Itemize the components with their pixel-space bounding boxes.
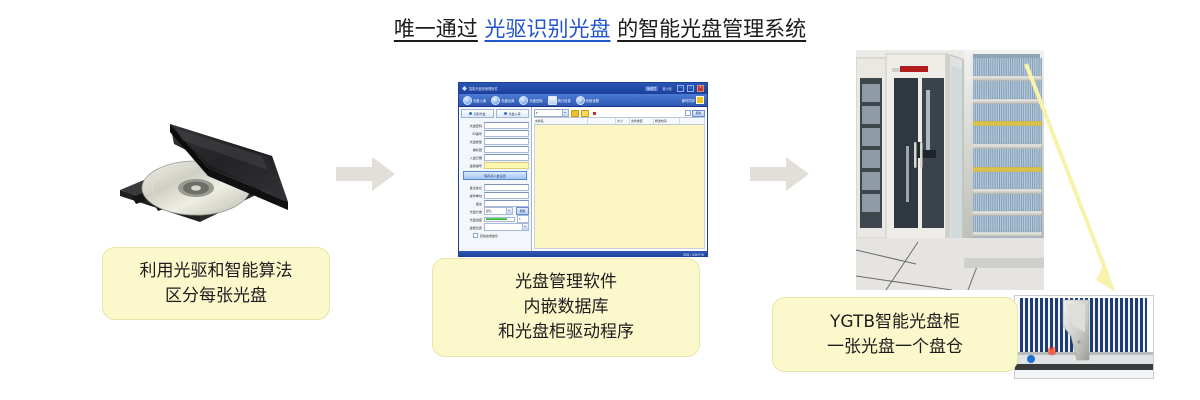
toolbar-label-sync: 即时同步	[682, 98, 695, 103]
caption-software-line-2: 内嵌数据库	[524, 295, 609, 320]
caption-software-line-3: 和光盘柜驱动程序	[498, 320, 634, 345]
select-all-checkbox-icon[interactable]	[685, 110, 690, 115]
tab-label-scan: 识别光盘	[473, 112, 485, 116]
status-bar-text: 就绪 | 系统正常	[683, 253, 704, 257]
stats-icon	[548, 96, 557, 105]
field-input-remark-info[interactable]	[484, 184, 529, 191]
caption-box-drive: 利用光驱和智能算法 区分每张光盘	[102, 247, 330, 320]
record-icon[interactable]	[593, 112, 596, 115]
field-label-disc-password: 光盘密码	[461, 123, 482, 128]
cabinet-position-select[interactable]	[484, 223, 529, 231]
app-body: 识别光盘 光盘入库 光盘密码 ID编号 光盘类型	[459, 107, 707, 251]
checkbox-icon[interactable]	[473, 233, 478, 238]
field-label-operator-unit: 操作单位	[461, 193, 482, 198]
toolbar-button-settings[interactable]: 系统设置	[574, 96, 601, 105]
app-toolbar[interactable]: 光盘入库 光盘出库 光盘还库 统计信息 系统设置 即时同步	[459, 94, 707, 107]
field-row-volume-title: 卷标题	[461, 145, 529, 153]
toolbar-button-inbound[interactable]: 光盘入库	[461, 96, 488, 105]
arrow-software-to-cabinet	[750, 157, 810, 191]
disc-progress-bar	[484, 217, 515, 222]
field-label-disc-progress: 光盘进度	[461, 217, 482, 222]
sync-flag-icon	[696, 96, 704, 104]
caption-drive-line-1: 利用光驱和智能算法	[140, 259, 293, 284]
progress-fill	[486, 218, 508, 220]
field-row-remark: 备注	[461, 199, 529, 207]
field-label-cabinet-position: 盘柜位置	[461, 225, 482, 230]
toolbar-label-inbound: 光盘入库	[473, 98, 486, 103]
disc-category-select[interactable]: 默认	[484, 207, 513, 215]
file-list-header: 文件名 大小 文件类型 修改时间	[534, 117, 705, 125]
disc-slot-gripper-illustration	[1015, 296, 1153, 378]
folder-up-icon[interactable]	[581, 110, 589, 117]
field-input-volume-title[interactable]	[484, 146, 529, 153]
optical-drive-icon	[112, 104, 302, 229]
column-extra	[680, 118, 705, 124]
field-row-id: ID编号	[461, 129, 529, 137]
title-suffix: 的智能光盘管理系统	[617, 17, 806, 41]
caption-box-software: 光盘管理软件 内嵌数据库 和光盘柜驱动程序	[432, 258, 700, 357]
column-modified: 修改时间	[654, 118, 680, 124]
app-logo-icon	[462, 86, 467, 91]
field-row-disc-category: 光盘分类 默认 刷新	[461, 207, 529, 215]
disc-category-value: 默认	[485, 209, 506, 213]
toolbar-label-stats: 统计信息	[558, 98, 571, 103]
checkbox-label: 自动启用盘仓	[480, 234, 498, 238]
minimize-button[interactable]: —	[677, 85, 684, 92]
inbound-icon	[463, 96, 472, 105]
field-input-rack-number[interactable]	[484, 162, 529, 169]
tab-add-disc[interactable]: 光盘入库	[496, 109, 529, 118]
optical-drive-image	[112, 104, 302, 229]
user-badge[interactable]: 管理员	[645, 86, 659, 91]
disc-cabinet-illustration	[856, 50, 1044, 290]
column-blank	[588, 118, 616, 124]
field-input-remark[interactable]	[484, 200, 529, 207]
field-row-disc-type: 光盘类型	[461, 137, 529, 145]
toolbar-button-outbound[interactable]: 光盘出库	[489, 96, 516, 105]
toolbar-sync[interactable]: 即时同步	[682, 96, 705, 104]
field-label-rack-number: 盘架编号	[461, 163, 482, 168]
file-browser-toolbar[interactable]: F: 刷新	[534, 109, 705, 117]
caption-drive-line-2: 区分每张光盘	[165, 284, 267, 309]
caption-cabinet-line-1: YGTB智能光盘柜	[830, 310, 960, 335]
close-button[interactable]: ✕	[697, 85, 704, 92]
window-controls[interactable]: — □ ✕	[677, 85, 704, 92]
field-input-operator-unit[interactable]	[484, 192, 529, 199]
tab-label-add: 光盘入库	[508, 112, 520, 116]
app-status-bar: 就绪 | 系统正常	[459, 251, 707, 257]
left-panel-tabs[interactable]: 识别光盘 光盘入库	[461, 109, 529, 118]
caption-software-line-1: 光盘管理软件	[515, 270, 617, 295]
app-left-panel[interactable]: 识别光盘 光盘入库 光盘密码 ID编号 光盘类型	[459, 107, 532, 251]
save-disc-settings-button[interactable]: 保存并入盘设置	[463, 171, 527, 180]
drive-path-select[interactable]: F:	[534, 109, 569, 117]
drive-path-value: F:	[535, 111, 562, 115]
field-label-disc-type: 光盘类型	[461, 139, 482, 144]
file-browser-right-tools[interactable]: 刷新	[685, 110, 705, 117]
toolbar-button-return[interactable]: 光盘还库	[517, 96, 544, 105]
arrow-drive-to-software	[336, 157, 396, 191]
toolbar-label-settings: 系统设置	[586, 98, 599, 103]
field-input-id[interactable]	[484, 130, 529, 137]
field-label-remark-info: 备注信息	[461, 185, 482, 190]
disc-management-software-window[interactable]: 智能光盘柜管理软件 管理员 最小化 — □ ✕ 光盘入库 光盘出库 光盘还库	[458, 82, 708, 257]
minimize-hint-label: 最小化	[662, 86, 672, 91]
field-row-cabinet-position: 盘柜位置	[461, 223, 529, 231]
return-icon	[519, 96, 528, 105]
field-label-disc-category: 光盘分类	[461, 209, 482, 214]
toolbar-label-outbound: 光盘出库	[501, 98, 514, 103]
slide-canvas: 唯一通过 光驱识别光盘 的智能光盘管理系统	[0, 0, 1200, 400]
field-row-remark-info: 备注信息	[461, 183, 529, 191]
app-title-bar: 智能光盘柜管理软件 管理员 最小化 — □ ✕	[459, 83, 707, 94]
file-list-area[interactable]	[534, 125, 705, 249]
refresh-button[interactable]: 刷新	[516, 207, 529, 215]
toolbar-button-stats[interactable]: 统计信息	[546, 96, 573, 105]
field-row-disc-progress: 光盘进度 1	[461, 215, 529, 223]
field-input-entry-date[interactable]	[484, 154, 529, 161]
chevron-down-icon-2[interactable]	[522, 224, 528, 230]
field-row-entry-date: 入盘日期	[461, 153, 529, 161]
caption-cabinet-line-2: 一张光盘一个盘仓	[827, 335, 963, 360]
maximize-button[interactable]: □	[687, 85, 694, 92]
field-row-disc-password: 光盘密码	[461, 121, 529, 129]
column-filename: 文件名	[534, 118, 588, 124]
title-highlight: 光驱识别光盘	[485, 17, 611, 41]
field-row-rack-number: 盘架编号	[461, 161, 529, 169]
disc-slot-detail-photo	[1014, 295, 1154, 379]
auto-enable-slot-checkbox[interactable]: 自动启用盘仓	[461, 233, 529, 238]
app-right-panel[interactable]: F: 刷新 文件名 大小 文件类型 修改时间	[532, 107, 707, 251]
column-size: 大小	[616, 118, 630, 124]
field-label-id: ID编号	[461, 131, 482, 136]
toolbar-label-return: 光盘还库	[529, 98, 542, 103]
outbound-icon	[491, 96, 500, 105]
tab-scan-disc[interactable]: 识别光盘	[461, 109, 494, 118]
scan-icon	[469, 112, 472, 115]
progress-stepper[interactable]: 1	[517, 215, 529, 223]
page-title: 唯一通过 光驱识别光盘 的智能光盘管理系统	[0, 14, 1200, 44]
field-input-disc-type[interactable]	[484, 138, 529, 145]
folder-icon[interactable]	[571, 110, 579, 117]
field-label-volume-title: 卷标题	[461, 147, 482, 152]
title-prefix: 唯一通过	[394, 17, 478, 41]
field-row-operator-unit: 操作单位	[461, 191, 529, 199]
add-icon	[504, 112, 507, 115]
chevron-down-icon[interactable]	[506, 208, 512, 214]
gear-icon	[576, 96, 585, 105]
field-label-entry-date: 入盘日期	[461, 155, 482, 160]
file-refresh-button[interactable]: 刷新	[692, 110, 705, 117]
app-window-title: 智能光盘柜管理软件	[469, 86, 498, 91]
field-label-remark: 备注	[461, 201, 482, 206]
field-input-disc-password[interactable]	[484, 122, 529, 129]
column-filetype: 文件类型	[630, 118, 654, 124]
disc-cabinet-photo	[856, 50, 1044, 290]
chevron-down-icon-3[interactable]	[562, 110, 568, 116]
caption-box-cabinet: YGTB智能光盘柜 一张光盘一个盘仓	[772, 297, 1018, 372]
